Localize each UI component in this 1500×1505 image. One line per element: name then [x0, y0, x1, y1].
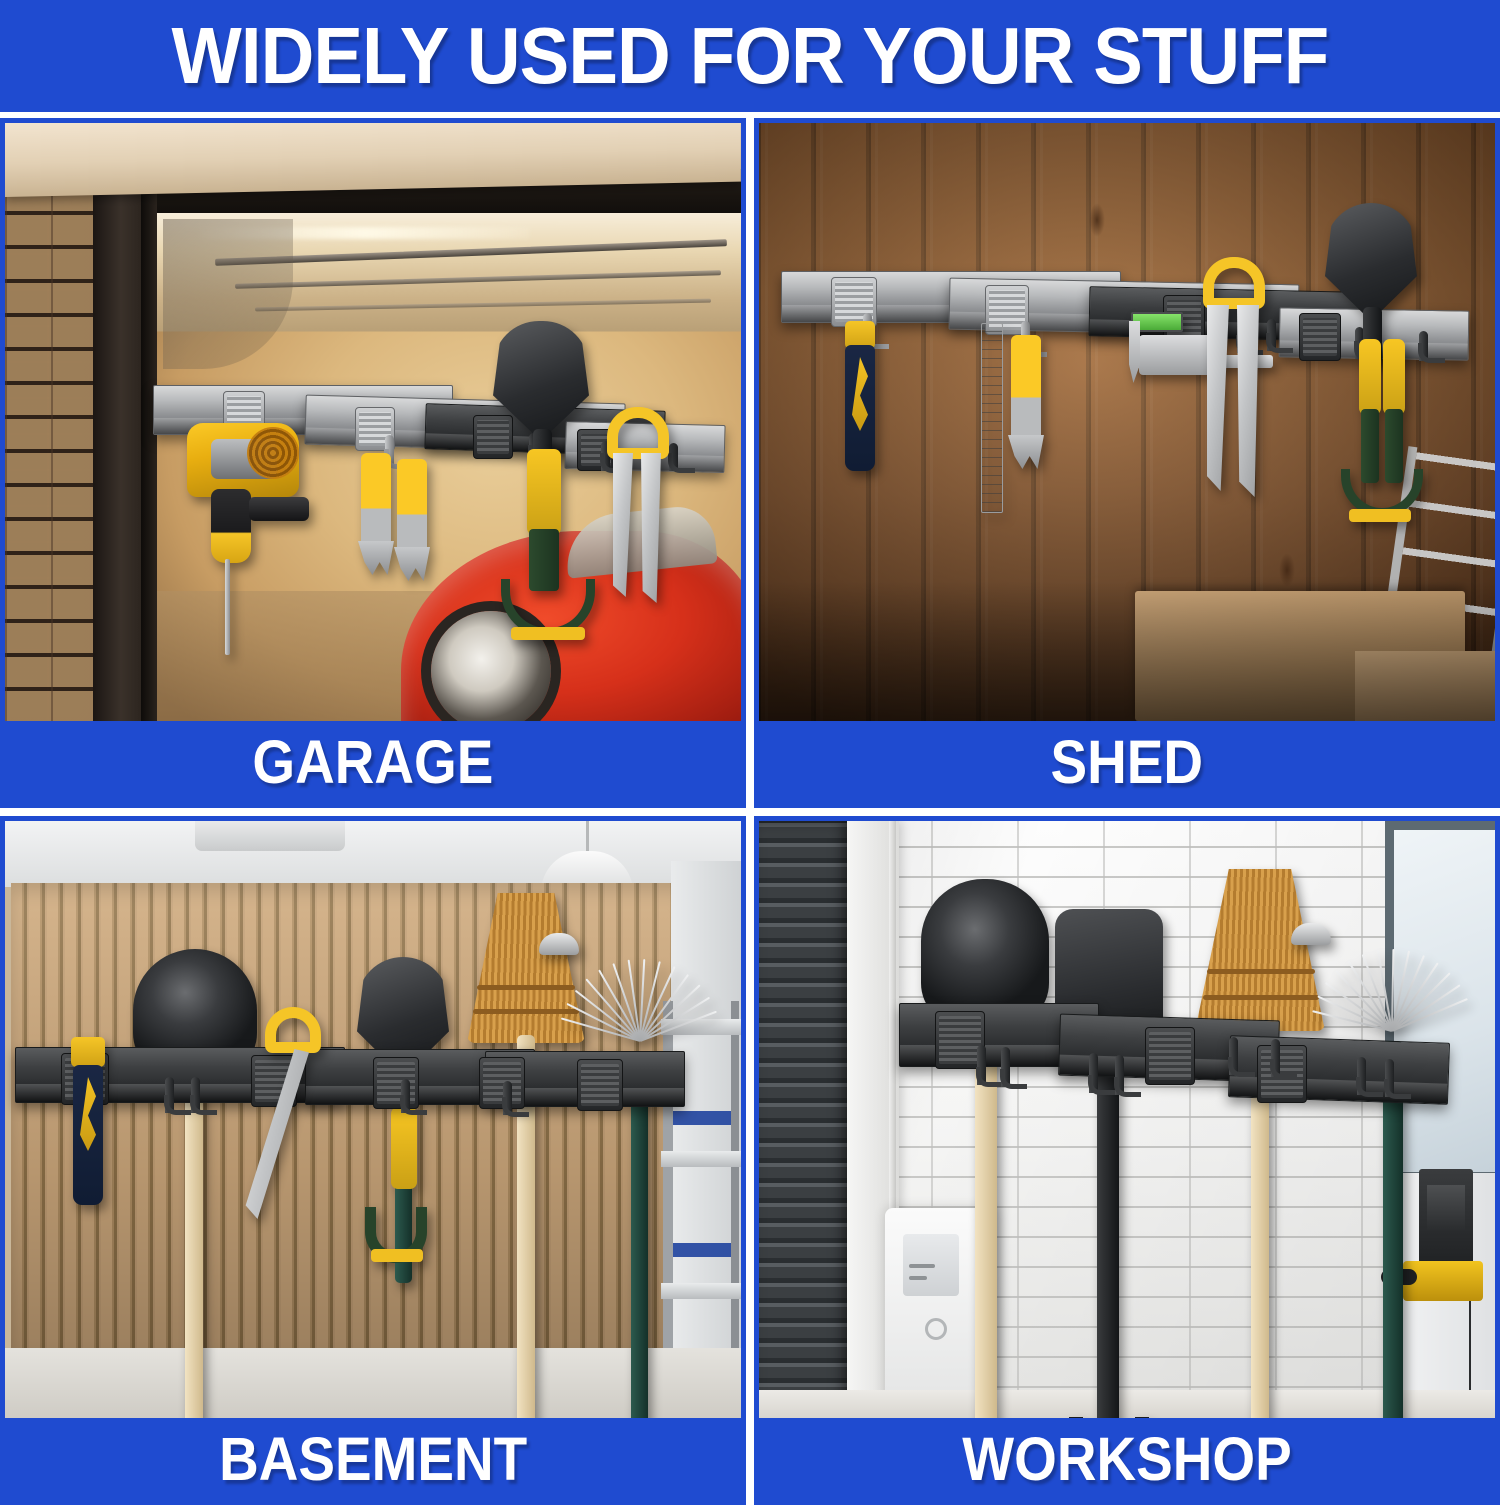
saw-handle — [607, 407, 669, 459]
j-hook — [503, 1081, 512, 1115]
ruler-body — [981, 323, 1003, 513]
rake-tines — [559, 949, 719, 1041]
roller-shutter-door — [759, 821, 851, 1418]
photo-shed — [759, 123, 1495, 721]
drill-bit — [225, 559, 230, 655]
j-hook — [1271, 1039, 1280, 1077]
pendant-cord — [586, 821, 589, 855]
caption-label: BASEMENT — [219, 1424, 527, 1494]
garage-door-jamb-inner — [141, 171, 157, 721]
caliper-body — [1139, 335, 1213, 375]
rake-tines — [1311, 939, 1471, 1031]
hammer-head — [71, 1037, 105, 1067]
caption-shed: SHED — [759, 721, 1495, 803]
floor-shadow — [759, 581, 1495, 721]
caption-basement: BASEMENT — [5, 1418, 741, 1500]
spring-clip-holder — [473, 415, 513, 459]
drill-grip — [211, 489, 251, 563]
caption-workshop: WORKSHOP — [759, 1418, 1495, 1500]
heater-display-line — [909, 1264, 935, 1268]
j-hook — [1001, 1047, 1010, 1087]
j-hook — [669, 443, 678, 471]
caption-label: WORKSHOP — [962, 1424, 1291, 1494]
j-hook — [1385, 1059, 1394, 1097]
ceiling-vent — [195, 821, 345, 851]
drill-chuck — [249, 497, 309, 521]
shelf-board — [661, 1151, 741, 1167]
claw-grip — [1359, 339, 1381, 415]
j-hook — [1089, 1053, 1098, 1093]
claw-grip — [527, 449, 561, 535]
panel-basement[interactable]: BASEMENT — [0, 816, 746, 1505]
panel-garage[interactable]: GARAGE — [0, 118, 746, 808]
drill-coil — [247, 427, 299, 479]
hammer-grip — [73, 1065, 103, 1205]
spade-grip — [391, 1107, 417, 1189]
gas-meter-display — [1427, 1185, 1465, 1231]
panel-shed[interactable]: SHED — [754, 118, 1500, 808]
broom-band — [1207, 969, 1315, 974]
wrench-body — [1011, 335, 1041, 443]
heater-display-line — [909, 1276, 927, 1280]
j-hook — [165, 1077, 174, 1113]
claw-cross-bar — [511, 627, 585, 640]
spring-clip-holder — [577, 1059, 623, 1111]
j-hook — [191, 1077, 200, 1113]
rake-handle — [631, 1057, 648, 1418]
brick-wall — [5, 123, 93, 721]
claw-grip — [1383, 339, 1405, 415]
caption-label: GARAGE — [253, 727, 494, 797]
j-hook — [1267, 319, 1276, 351]
wood-knot — [1089, 203, 1105, 237]
spring-clip-holder — [1299, 313, 1341, 361]
j-hook — [1115, 1055, 1124, 1095]
spade-d-handle — [1069, 1417, 1149, 1418]
panel-workshop[interactable]: WORKSHOP — [754, 816, 1500, 1505]
j-hook — [1419, 331, 1428, 361]
basement-ceiling — [5, 821, 741, 887]
photo-basement — [5, 821, 741, 1418]
saw-handle — [1203, 257, 1265, 309]
caption-garage: GARAGE — [5, 721, 741, 803]
j-hook — [977, 1045, 986, 1085]
caption-label: SHED — [1051, 727, 1204, 797]
shelf-board — [661, 1283, 741, 1299]
page-title: WIDELY USED FOR YOUR STUFF — [172, 10, 1329, 102]
photo-garage — [5, 123, 741, 721]
feature-grid: GARAGE — [0, 118, 1500, 1497]
wrench-body — [397, 459, 427, 555]
header-banner: WIDELY USED FOR YOUR STUFF — [0, 0, 1500, 112]
hammer-grip — [845, 345, 875, 471]
j-hook — [401, 1079, 410, 1113]
spring-clip-holder — [1145, 1027, 1195, 1085]
heater-knob — [925, 1318, 947, 1340]
photo-workshop — [759, 821, 1495, 1418]
j-hook — [1357, 1057, 1366, 1095]
broom-band — [1203, 995, 1319, 1000]
wrench-body — [361, 453, 391, 549]
spade-d-bar — [371, 1249, 423, 1262]
j-hook — [1229, 1037, 1238, 1075]
claw-cross-bar — [1349, 509, 1411, 522]
